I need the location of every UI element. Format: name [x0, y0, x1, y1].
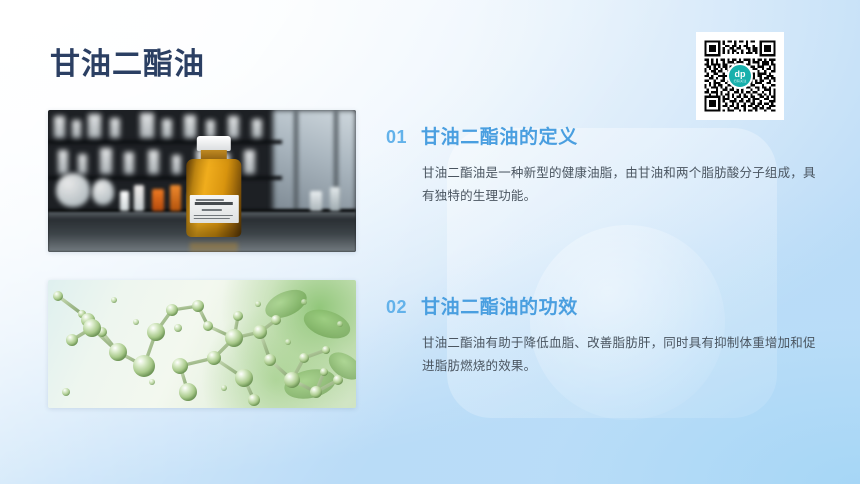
qr-logo-mark: dp	[735, 70, 746, 79]
content-section-01: 01 甘油二酯油的定义 甘油二酯油是一种新型的健康油脂，由甘油和两个脂肪酸分子组…	[386, 122, 816, 208]
section-02-number: 02	[386, 297, 407, 318]
section-01-body: 甘油二酯油是一种新型的健康油脂，由甘油和两个脂肪酸分子组成，具有独特的生理功能。	[422, 162, 816, 208]
lab-bottle-photo	[48, 110, 356, 252]
lab-jar	[252, 119, 262, 138]
lab-jar	[162, 119, 172, 138]
lab-jar	[54, 116, 65, 138]
section-02-body: 甘油二酯油有助于降低血脂、改善脂肪肝，同时具有抑制体重增加和促进脂肪燃烧的效果。	[422, 332, 816, 378]
section-02-heading-row: 02 甘油二酯油的功效	[386, 292, 816, 319]
bottle-reflection	[190, 243, 238, 252]
section-01-title: 甘油二酯油的定义	[421, 122, 578, 149]
lab-vial	[330, 187, 340, 211]
lab-jar	[72, 120, 81, 138]
qr-code[interactable]: dp 扫码关注	[696, 32, 784, 120]
lab-vial-orange	[170, 185, 181, 211]
lab-jar	[140, 113, 154, 138]
lab-window-mullion	[294, 110, 298, 212]
section-01-number: 01	[386, 127, 407, 148]
lab-jar	[58, 150, 68, 174]
lab-jar	[184, 115, 196, 138]
lab-flask	[56, 173, 90, 207]
lab-flask	[92, 179, 114, 205]
molecule-graph	[48, 280, 356, 408]
lab-jar	[100, 148, 112, 174]
amber-reagent-bottle	[185, 136, 243, 244]
lab-vial-orange	[152, 189, 164, 211]
qr-logo-subtext: 扫码关注	[734, 79, 747, 83]
section-02-title: 甘油二酯油的功效	[421, 292, 578, 319]
lab-jar	[124, 152, 134, 174]
lab-jar	[244, 150, 255, 174]
lab-scene-illustration	[48, 110, 356, 252]
bottle-body	[186, 159, 241, 238]
qr-code-canvas: dp 扫码关注	[702, 38, 778, 114]
section-01-heading-row: 01 甘油二酯油的定义	[386, 122, 816, 149]
bottle-label	[189, 195, 238, 223]
lab-vial	[120, 191, 129, 211]
molecule-photo	[48, 280, 356, 408]
lab-jar	[110, 118, 120, 138]
lab-shelf-edge	[48, 140, 282, 144]
bottle-cap	[197, 136, 231, 151]
leaf-cluster	[261, 284, 356, 403]
content-section-02: 02 甘油二酯油的功效 甘油二酯油有助于降低血脂、改善脂肪肝，同时具有抑制体重增…	[386, 292, 816, 378]
lab-jar	[172, 155, 181, 174]
lab-jar	[78, 154, 87, 174]
slide-canvas: 甘油二酯油	[0, 0, 860, 484]
lab-vial	[134, 185, 144, 211]
lab-vial	[310, 191, 322, 211]
lab-jar	[88, 114, 101, 138]
qr-logo: dp 扫码关注	[727, 63, 753, 89]
page-title: 甘油二酯油	[50, 39, 205, 83]
molecule-illustration	[48, 280, 356, 408]
lab-jar	[148, 150, 159, 174]
